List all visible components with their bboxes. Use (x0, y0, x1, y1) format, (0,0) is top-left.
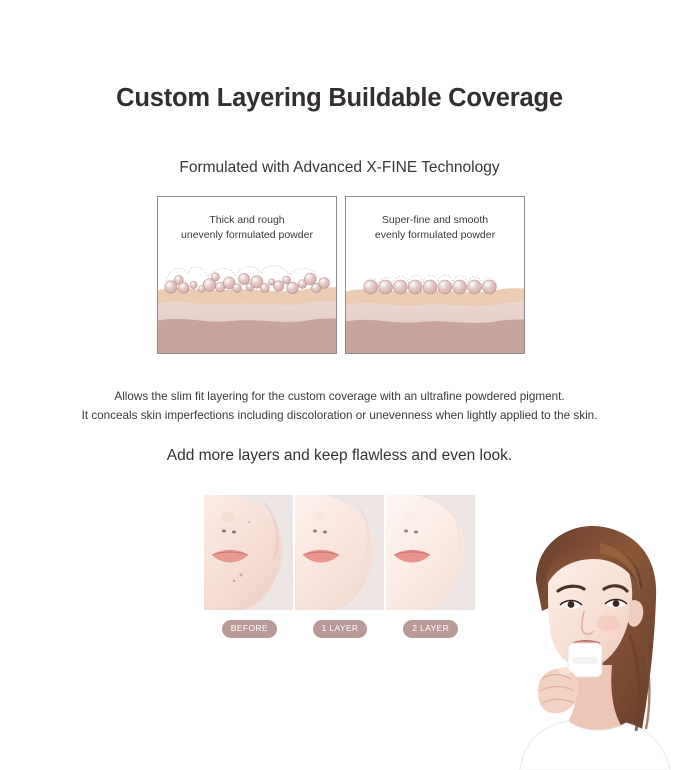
before-after-label-cell-2: 2 LAYER (385, 620, 476, 638)
powder-comparison-panels: Thick and rough unevenly formulated powd… (157, 196, 525, 354)
model-photo (480, 515, 679, 770)
before-after-label-cell-1: 1 LAYER (295, 620, 386, 638)
before-after-labels: BEFORE 1 LAYER 2 LAYER (204, 620, 476, 638)
label-pill-layer1: 1 LAYER (313, 620, 368, 638)
panel-uneven-caption-line2: unevenly formulated powder (158, 228, 336, 243)
before-after-photo-layer2 (386, 495, 475, 610)
label-pill-layer2: 2 LAYER (403, 620, 458, 638)
before-after-photo-before (204, 495, 293, 610)
label-pill-before: BEFORE (222, 620, 277, 638)
description-line-2: It conceals skin imperfections including… (0, 406, 679, 425)
before-after-photo-strip (204, 495, 476, 610)
layering-tagline: Add more layers and keep flawless and ev… (0, 447, 679, 465)
description-paragraph: Allows the slim fit layering for the cus… (0, 387, 679, 425)
description-line-1: Allows the slim fit layering for the cus… (0, 387, 679, 406)
page-title: Custom Layering Buildable Coverage (0, 84, 679, 113)
panel-even-caption-line1: Super-fine and smooth (346, 213, 524, 228)
powder-particles-uneven (158, 241, 336, 301)
panel-uneven-caption: Thick and rough unevenly formulated powd… (158, 213, 336, 243)
page-subtitle: Formulated with Advanced X-FINE Technolo… (0, 159, 679, 177)
powder-particles-even (346, 241, 524, 301)
before-after-label-cell-0: BEFORE (204, 620, 295, 638)
panel-even-caption-line2: evenly formulated powder (346, 228, 524, 243)
before-after-photo-layer1 (295, 495, 384, 610)
panel-even-powder: Super-fine and smooth evenly formulated … (345, 196, 525, 354)
panel-uneven-caption-line1: Thick and rough (158, 213, 336, 228)
panel-even-caption: Super-fine and smooth evenly formulated … (346, 213, 524, 243)
panel-uneven-powder: Thick and rough unevenly formulated powd… (157, 196, 337, 354)
